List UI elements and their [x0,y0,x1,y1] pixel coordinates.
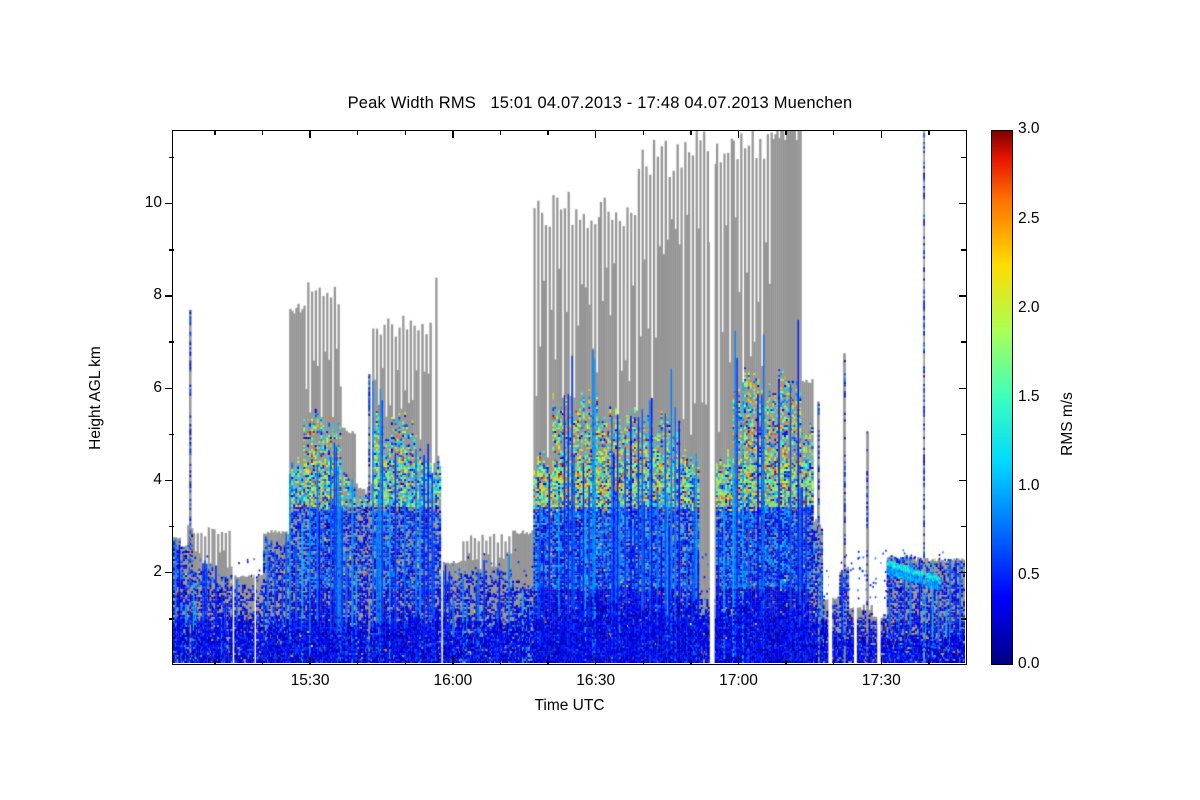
y-axis-tick-minor-right [961,526,966,527]
x-axis-tick-minor [833,660,834,665]
y-axis-tick-label: 2 [153,563,162,581]
x-axis-tick-major-top [452,130,453,138]
x-axis-tick-major [881,657,882,665]
x-axis-tick-minor-top [785,130,786,135]
x-axis-tick-major [452,657,453,665]
x-axis-tick-minor-top [405,130,406,135]
y-axis-tick-minor-right [961,249,966,250]
x-axis-tick-label: 17:30 [862,672,901,690]
figure-root: Peak Width RMS 15:01 04.07.2013 - 17:48 … [0,0,1200,800]
x-axis-tick-major-top [881,130,882,138]
x-axis-tick-minor-top [500,130,501,135]
x-axis-tick-label: 17:00 [719,672,758,690]
x-axis-tick-minor [643,660,644,665]
y-axis-tick-major-right [959,295,967,296]
x-axis-tick-minor [785,660,786,665]
x-axis-tick-major-top [738,130,739,138]
x-axis-tick-minor [500,660,501,665]
y-axis-tick-major-right [959,388,967,389]
y-axis-tick-minor [169,526,174,527]
y-axis-title: Height AGL km [87,346,105,450]
x-axis-tick-minor [262,660,263,665]
heatmap-data-canvas [173,131,965,663]
y-axis-tick-major [165,203,173,204]
x-axis-tick-label: 15:30 [291,672,330,690]
x-axis-tick-minor-top [833,130,834,135]
colorbar-gradient [992,131,1012,664]
x-axis-tick-major [738,657,739,665]
colorbar-title: RMS m/s [1059,392,1077,456]
y-axis-tick-minor [169,618,174,619]
x-axis-tick-minor [547,660,548,665]
y-axis-tick-minor-right [961,341,966,342]
y-axis-tick-major [165,388,173,389]
x-axis-tick-minor [405,660,406,665]
y-axis-tick-major-right [959,572,967,573]
x-axis-tick-minor [928,660,929,665]
y-axis-tick-major [165,480,173,481]
colorbar-tick-label: 0.5 [1018,566,1040,584]
colorbar-tick-label: 2.0 [1018,299,1040,317]
x-axis-title: Time UTC [172,697,967,715]
y-axis-tick-minor-right [961,157,966,158]
x-axis-tick-minor-top [643,130,644,135]
y-axis-tick-label: 6 [153,379,162,397]
y-axis-tick-major-right [959,480,967,481]
colorbar [991,130,1013,665]
x-axis-tick-major-top [595,130,596,138]
y-axis-tick-minor [169,341,174,342]
x-axis-tick-minor-top [357,130,358,135]
page-title: Peak Width RMS 15:01 04.07.2013 - 17:48 … [0,94,1200,113]
y-axis-tick-label: 10 [145,194,162,212]
y-axis-tick-major [165,295,173,296]
x-axis-tick-minor-top [262,130,263,135]
colorbar-tick-label: 0.0 [1018,655,1040,673]
x-axis-tick-minor [357,660,358,665]
y-axis-tick-major [165,572,173,573]
y-axis-tick-label: 4 [153,471,162,489]
x-axis-tick-major-top [309,130,310,138]
y-axis-tick-minor [169,157,174,158]
y-axis-tick-minor [169,249,174,250]
x-axis-tick-minor-top [690,130,691,135]
x-axis-tick-minor-top [547,130,548,135]
colorbar-tick-label: 2.5 [1018,210,1040,228]
y-axis-tick-minor-right [961,618,966,619]
colorbar-tick-label: 3.0 [1018,120,1040,138]
x-axis-tick-minor-top [928,130,929,135]
y-axis-tick-minor [169,434,174,435]
colorbar-tick-label: 1.5 [1018,388,1040,406]
colorbar-tick-label: 1.0 [1018,477,1040,495]
plot-axes-area [172,130,967,665]
x-axis-tick-major [309,657,310,665]
y-axis-tick-major-right [959,203,967,204]
x-axis-tick-minor [214,660,215,665]
x-axis-tick-minor-top [214,130,215,135]
x-axis-tick-label: 16:00 [433,672,472,690]
y-axis-tick-minor-right [961,434,966,435]
x-axis-tick-label: 16:30 [576,672,615,690]
x-axis-tick-minor [690,660,691,665]
y-axis-tick-label: 8 [153,286,162,304]
x-axis-tick-major [595,657,596,665]
